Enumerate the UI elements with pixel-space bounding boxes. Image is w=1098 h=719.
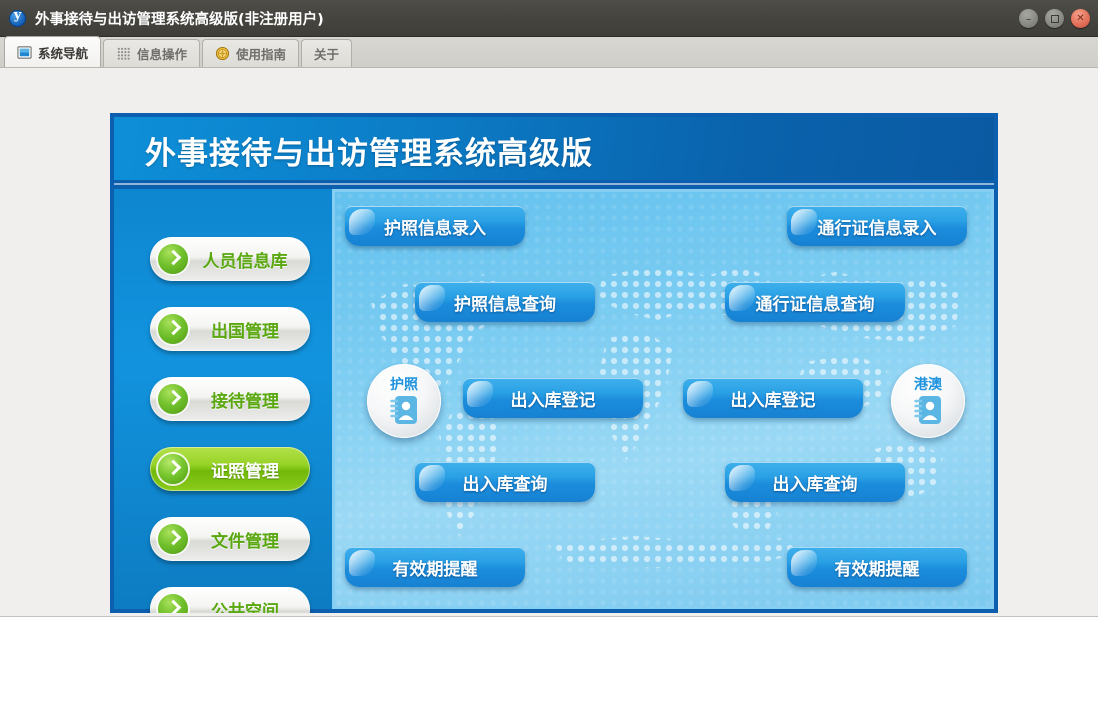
tab-label: 系统导航	[38, 43, 88, 62]
sidebar-item-certificate-management[interactable]: 证照管理	[150, 447, 310, 491]
sidebar-item-personnel-db[interactable]: 人员信息库	[150, 237, 310, 281]
app-logo-icon	[9, 10, 26, 27]
button-label: 有效期提醒	[835, 555, 920, 580]
gloss-highlight	[729, 465, 755, 491]
sidebar-item-file-management[interactable]: 文件管理	[150, 517, 310, 561]
maximize-button[interactable]	[1045, 9, 1064, 28]
button-label: 出入库登记	[731, 386, 816, 411]
gloss-highlight	[791, 209, 817, 235]
tab-label: 信息操作	[137, 44, 187, 63]
badge-label: 港澳	[914, 378, 942, 392]
button-label: 护照信息录入	[384, 214, 486, 239]
title-bar: 外事接待与出访管理系统高级版(非注册用户) – ✕	[0, 0, 1098, 37]
sidebar-item-label: 公共空间	[188, 597, 310, 614]
monitor-icon	[17, 45, 32, 60]
btn-passport-stock-in[interactable]: 出入库登记	[463, 378, 643, 418]
close-button[interactable]: ✕	[1071, 9, 1090, 28]
button-label: 通行证信息查询	[756, 290, 875, 315]
sidebar-item-label: 文件管理	[188, 527, 310, 552]
tab-user-guide[interactable]: 使用指南	[202, 39, 299, 67]
id-card-icon	[913, 394, 943, 426]
tab-system-navigation[interactable]: 系统导航	[4, 36, 101, 67]
gloss-highlight	[419, 285, 445, 311]
work-area: 外事接待与出访管理系统高级版 人员信息库 出国管理 接待管理	[0, 68, 1098, 617]
sidebar-item-reception-management[interactable]: 接待管理	[150, 377, 310, 421]
maximize-icon	[1045, 15, 1064, 23]
stage-content: 护照信息录入 护照信息查询 护照	[335, 192, 991, 606]
btn-permit-stock-in[interactable]: 出入库登记	[683, 378, 863, 418]
tab-information-operations[interactable]: 信息操作	[103, 39, 200, 67]
id-card-icon	[389, 394, 419, 426]
hkmacau-badge[interactable]: 港澳	[891, 364, 965, 438]
sidebar-item-label: 出国管理	[188, 317, 310, 342]
navigation-panel: 外事接待与出访管理系统高级版 人员信息库 出国管理 接待管理	[110, 113, 998, 613]
button-label: 通行证信息录入	[818, 214, 937, 239]
gloss-highlight	[419, 465, 445, 491]
btn-passport-stock-query[interactable]: 出入库查询	[415, 462, 595, 502]
tab-about[interactable]: 关于	[301, 39, 352, 67]
tab-bar: 系统导航 信息操作	[0, 37, 1098, 68]
tab-label: 关于	[314, 44, 339, 63]
button-label: 护照信息查询	[454, 290, 556, 315]
panel-title: 外事接待与出访管理系统高级版	[145, 128, 593, 173]
gloss-highlight	[791, 550, 817, 576]
btn-passport-info-entry[interactable]: 护照信息录入	[345, 206, 525, 246]
btn-permit-expiry-alert[interactable]: 有效期提醒	[787, 547, 967, 587]
tab-label: 使用指南	[236, 44, 286, 63]
button-label: 出入库登记	[511, 386, 596, 411]
chevron-right-icon	[158, 384, 188, 414]
globe-coin-icon	[215, 46, 230, 61]
header-divider	[114, 183, 994, 185]
gloss-highlight	[687, 381, 713, 407]
minimize-button[interactable]: –	[1019, 9, 1038, 28]
panel-header: 外事接待与出访管理系统高级版	[114, 117, 994, 180]
gloss-highlight	[729, 285, 755, 311]
window-controls: – ✕	[1019, 9, 1090, 28]
chevron-right-icon	[158, 314, 188, 344]
btn-permit-stock-query[interactable]: 出入库查询	[725, 462, 905, 502]
sidebar-item-label: 接待管理	[188, 387, 310, 412]
button-label: 出入库查询	[773, 470, 858, 495]
application-window: 外事接待与出访管理系统高级版(非注册用户) – ✕ 系统导航	[0, 0, 1098, 719]
grid-icon	[116, 46, 131, 61]
navigation-stage: 护照信息录入 护照信息查询 护照	[332, 189, 994, 609]
sidebar-item-abroad-management[interactable]: 出国管理	[150, 307, 310, 351]
badge-label: 护照	[390, 378, 418, 392]
button-label: 出入库查询	[463, 470, 548, 495]
close-icon: ✕	[1071, 14, 1090, 24]
chevron-right-icon	[158, 594, 188, 613]
sidebar-menu: 人员信息库 出国管理 接待管理 证照管理 文件管理	[150, 237, 310, 613]
chevron-right-icon	[158, 524, 188, 554]
btn-permit-info-query[interactable]: 通行证信息查询	[725, 282, 905, 322]
chevron-right-icon	[158, 244, 188, 274]
btn-passport-expiry-alert[interactable]: 有效期提醒	[345, 547, 525, 587]
sidebar-item-public-space[interactable]: 公共空间	[150, 587, 310, 613]
passport-badge[interactable]: 护照	[367, 364, 441, 438]
gloss-highlight	[467, 381, 493, 407]
minimize-icon: –	[1019, 13, 1038, 24]
btn-permit-info-entry[interactable]: 通行证信息录入	[787, 206, 967, 246]
gloss-highlight	[349, 550, 375, 576]
button-label: 有效期提醒	[393, 555, 478, 580]
gloss-highlight	[349, 209, 375, 235]
chevron-right-icon	[158, 454, 188, 484]
window-title: 外事接待与出访管理系统高级版(非注册用户)	[35, 8, 324, 29]
btn-passport-info-query[interactable]: 护照信息查询	[415, 282, 595, 322]
sidebar-item-label: 证照管理	[188, 457, 310, 482]
sidebar-item-label: 人员信息库	[188, 247, 310, 272]
